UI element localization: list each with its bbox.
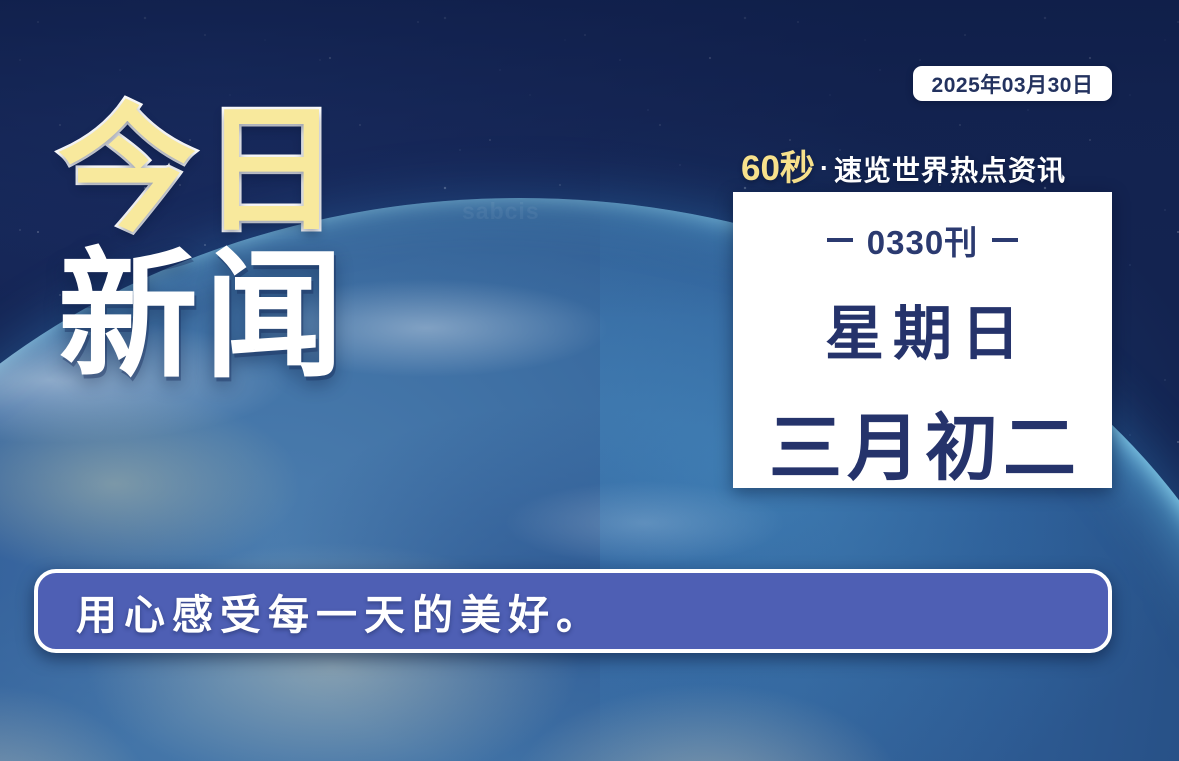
poster-title: 今日 新闻 xyxy=(58,104,478,384)
title-line-news: 新闻 xyxy=(58,247,478,384)
issue-row: 0330刊 xyxy=(827,216,1018,264)
quote-text: 用心感受每一天的美好。 xyxy=(76,581,604,641)
weekday-label: 星期日 xyxy=(816,286,1029,371)
tagline-separator: · xyxy=(820,153,829,184)
title-line-today: 今日 xyxy=(58,104,478,239)
tagline-subtitle: 速览世界热点资讯 xyxy=(834,149,1066,189)
date-badge-label: 2025年03月30日 xyxy=(932,69,1094,99)
issue-dash-right-icon xyxy=(992,238,1018,242)
tagline: 60秒 · 速览世界热点资讯 xyxy=(741,140,1113,184)
tagline-seconds: 60秒 xyxy=(741,140,815,191)
quote-banner: 用心感受每一天的美好。 xyxy=(34,569,1112,653)
lunar-date-label: 三月初二 xyxy=(764,389,1081,495)
issue-label: 0330刊 xyxy=(867,216,978,264)
issue-dash-left-icon xyxy=(827,238,853,242)
info-card: 0330刊 星期日 三月初二 xyxy=(733,192,1112,488)
date-badge: 2025年03月30日 xyxy=(913,66,1112,101)
news-poster: sabcis 今日 新闻 2025年03月30日 60秒 · 速览世界热点资讯 … xyxy=(0,0,1179,761)
